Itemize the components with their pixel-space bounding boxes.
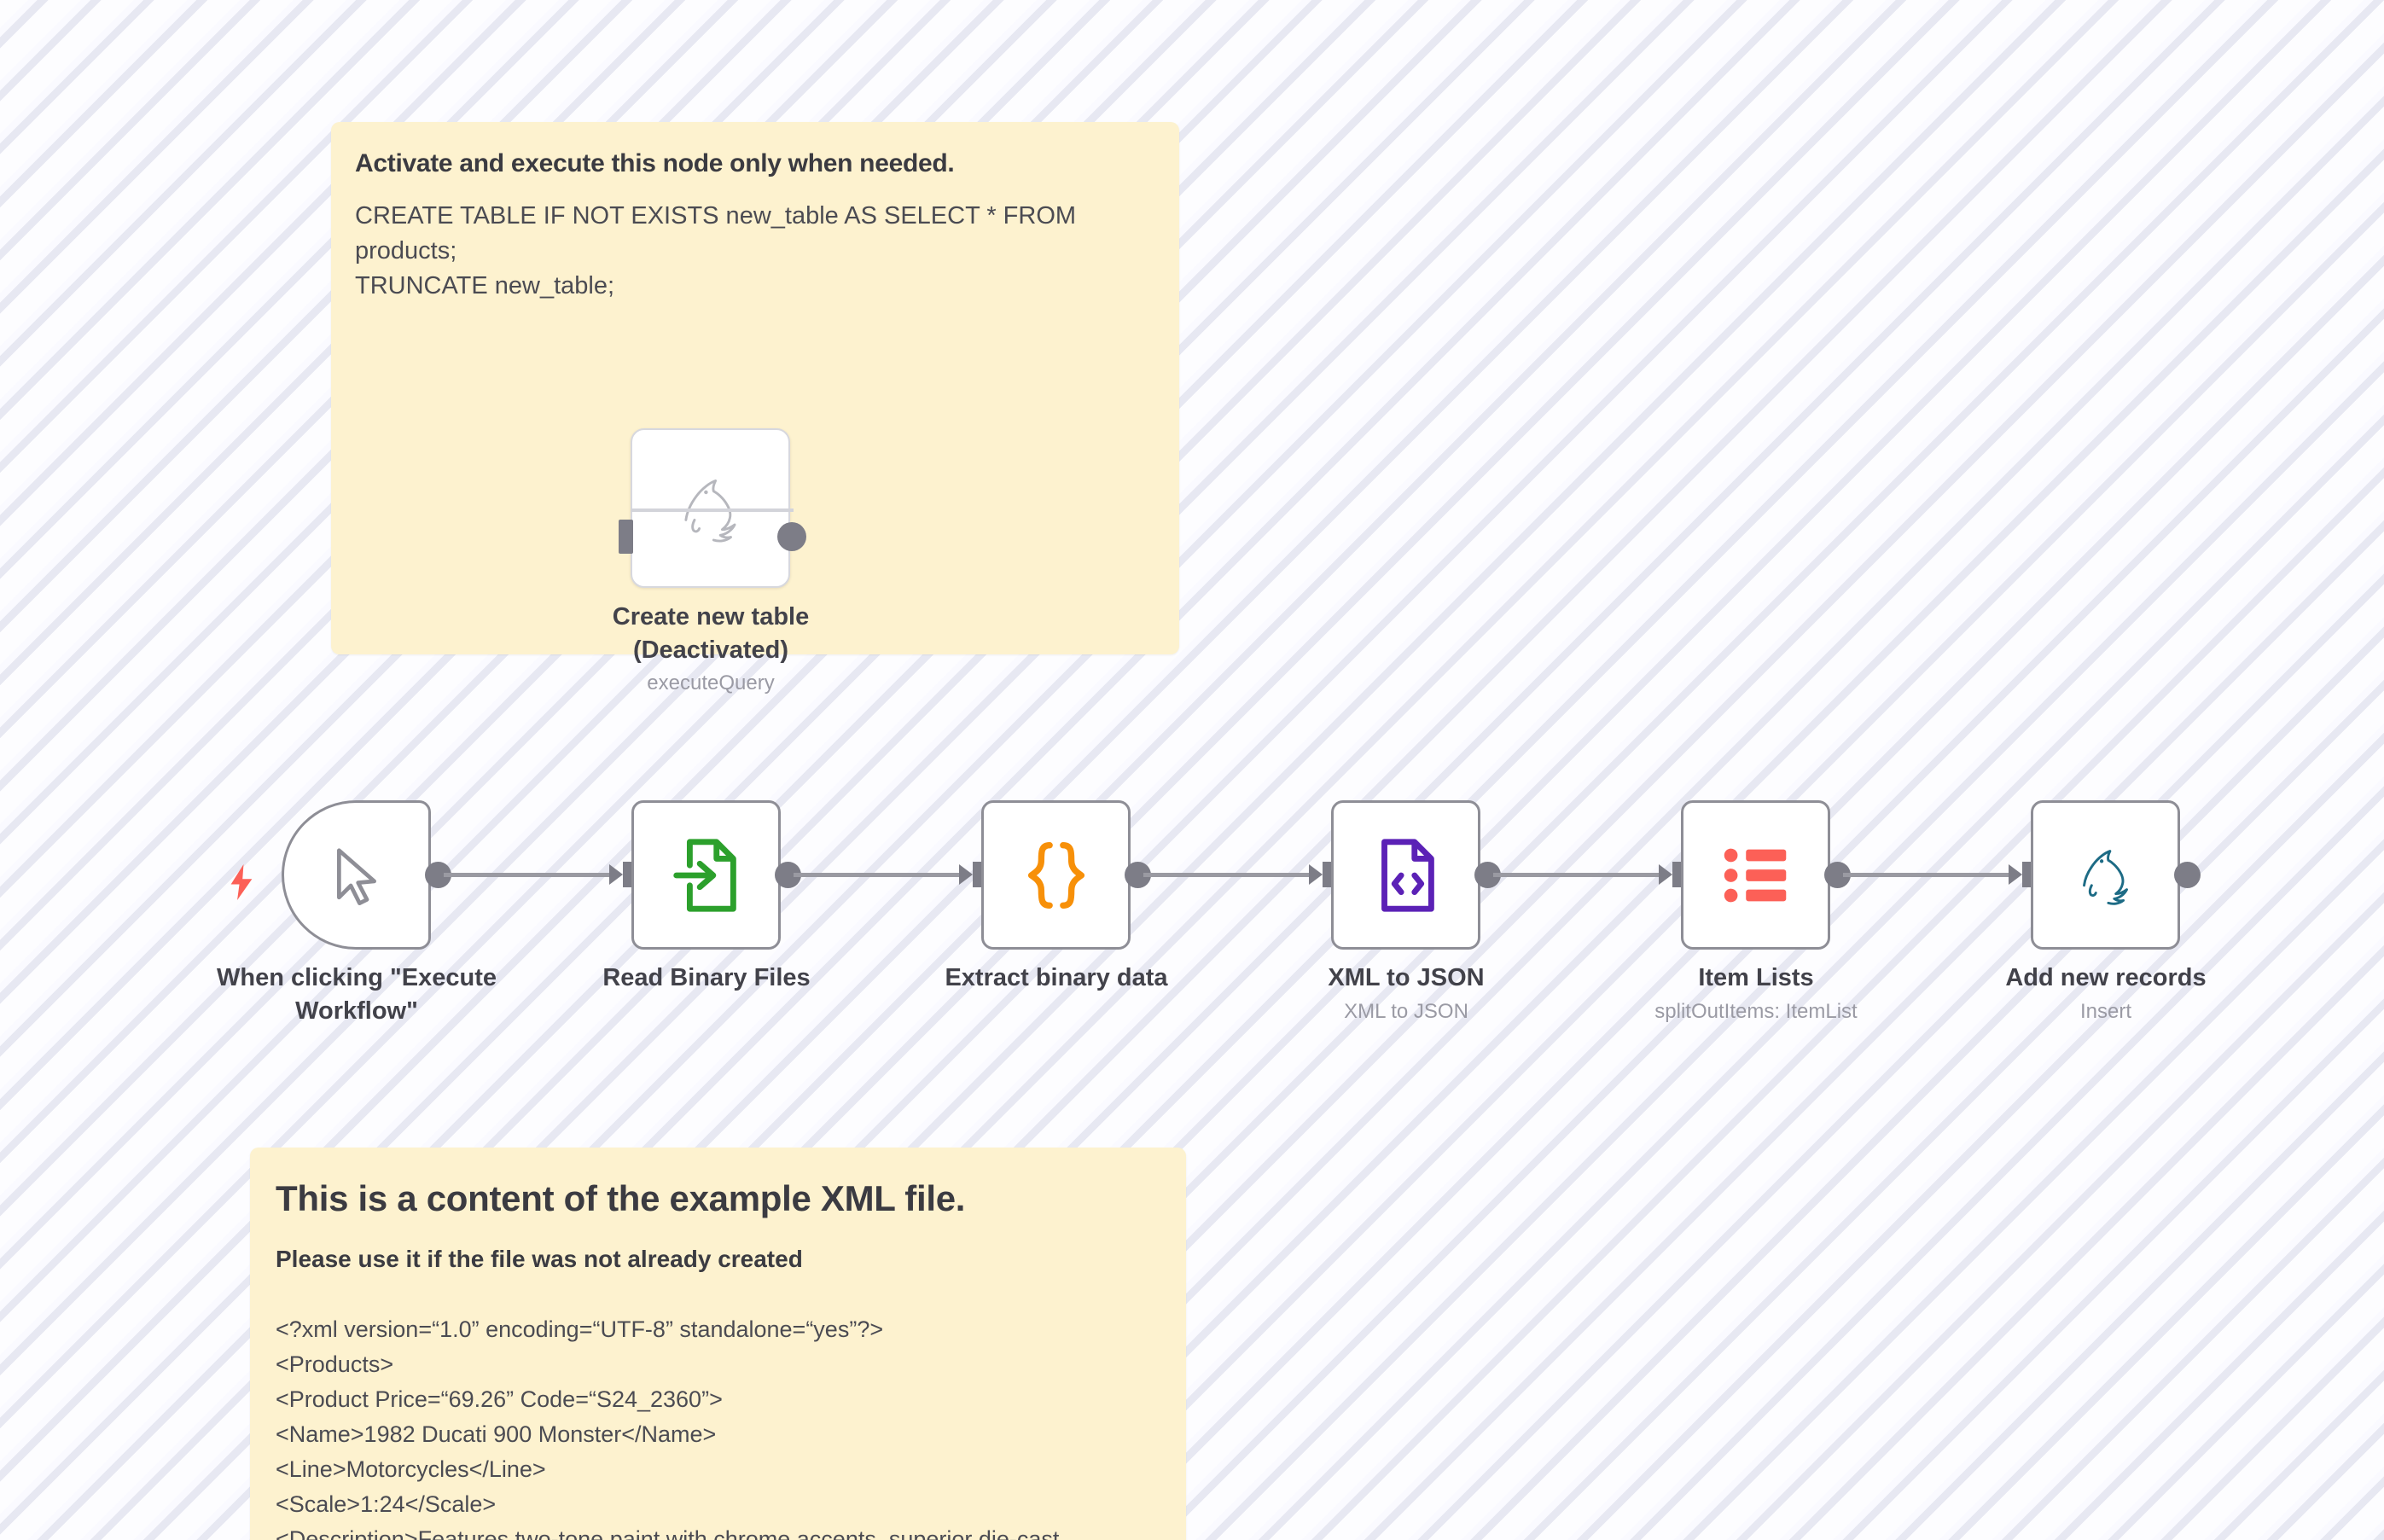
sticky-note-heading: This is a content of the example XML fil… (276, 1177, 1160, 1222)
node-caption-when-clicking-execute-workflow: When clicking "Execute Workflow" (169, 962, 544, 1027)
node-item-lists[interactable] (1681, 800, 1830, 950)
node-xml-to-json[interactable] (1331, 800, 1480, 950)
node-input-handle[interactable] (619, 520, 633, 554)
connector-line-5 (1843, 873, 2014, 877)
xml-code-file-icon (1364, 834, 1448, 917)
node-caption-create-new-table: Create new table (Deactivated) executeQu… (523, 601, 898, 698)
node-caption-xml-to-json: XML to JSON XML to JSON (1218, 962, 1594, 1026)
node-create-new-table[interactable] (631, 428, 790, 588)
connector-line-2 (794, 873, 964, 877)
node-add-new-records[interactable] (2031, 800, 2180, 950)
node-extract-binary-data[interactable] (981, 800, 1131, 950)
node-title: Add new records (1918, 962, 2294, 995)
connector-line-3 (1143, 873, 1314, 877)
curly-braces-icon (1015, 834, 1098, 917)
node-title: When clicking "Execute Workflow" (169, 962, 544, 1027)
node-caption-extract-binary-data: Extract binary data (869, 962, 1244, 995)
deactivated-strikethrough (631, 508, 794, 512)
lightning-bolt-icon (229, 864, 254, 900)
bullet-list-icon (1714, 834, 1798, 917)
node-title: XML to JSON (1218, 962, 1594, 995)
mysql-dolphin-icon (2064, 834, 2148, 917)
cursor-pointer-icon (320, 839, 393, 912)
node-subtitle: Insert (1918, 998, 2294, 1026)
workflow-canvas[interactable]: Activate and execute this node only when… (0, 0, 2384, 1540)
node-subtitle: XML to JSON (1218, 998, 1594, 1026)
sticky-note-activate-execute[interactable]: Activate and execute this node only when… (331, 122, 1179, 654)
node-caption-item-lists: Item Lists splitOutItems: ItemList (1568, 962, 1944, 1026)
connector-line-4 (1493, 873, 1664, 877)
node-title: Item Lists (1568, 962, 1944, 995)
node-read-binary-files[interactable] (631, 800, 781, 950)
node-output-handle-add-new-records[interactable] (2174, 862, 2201, 888)
sticky-note-heading: Activate and execute this node only when… (355, 148, 1155, 180)
node-when-clicking-execute-workflow[interactable] (282, 800, 431, 950)
node-title: Create new table (Deactivated) (523, 601, 898, 666)
sticky-note-body: CREATE TABLE IF NOT EXISTS new_table AS … (355, 199, 1155, 305)
node-output-handle[interactable] (777, 522, 806, 551)
file-import-icon (665, 834, 748, 917)
node-title: Read Binary Files (519, 962, 894, 995)
node-caption-add-new-records: Add new records Insert (1918, 962, 2294, 1026)
node-subtitle: executeQuery (523, 670, 898, 697)
sticky-note-example-xml[interactable]: This is a content of the example XML fil… (250, 1148, 1186, 1540)
sticky-note-xml-code: <?xml version=“1.0” encoding=“UTF-8” sta… (276, 1312, 1160, 1540)
node-title: Extract binary data (869, 962, 1244, 995)
node-caption-read-binary-files: Read Binary Files (519, 962, 894, 995)
connector-line-1 (444, 873, 614, 877)
node-subtitle: splitOutItems: ItemList (1568, 998, 1944, 1026)
sticky-note-subheading: Please use it if the file was not alread… (276, 1244, 1160, 1275)
